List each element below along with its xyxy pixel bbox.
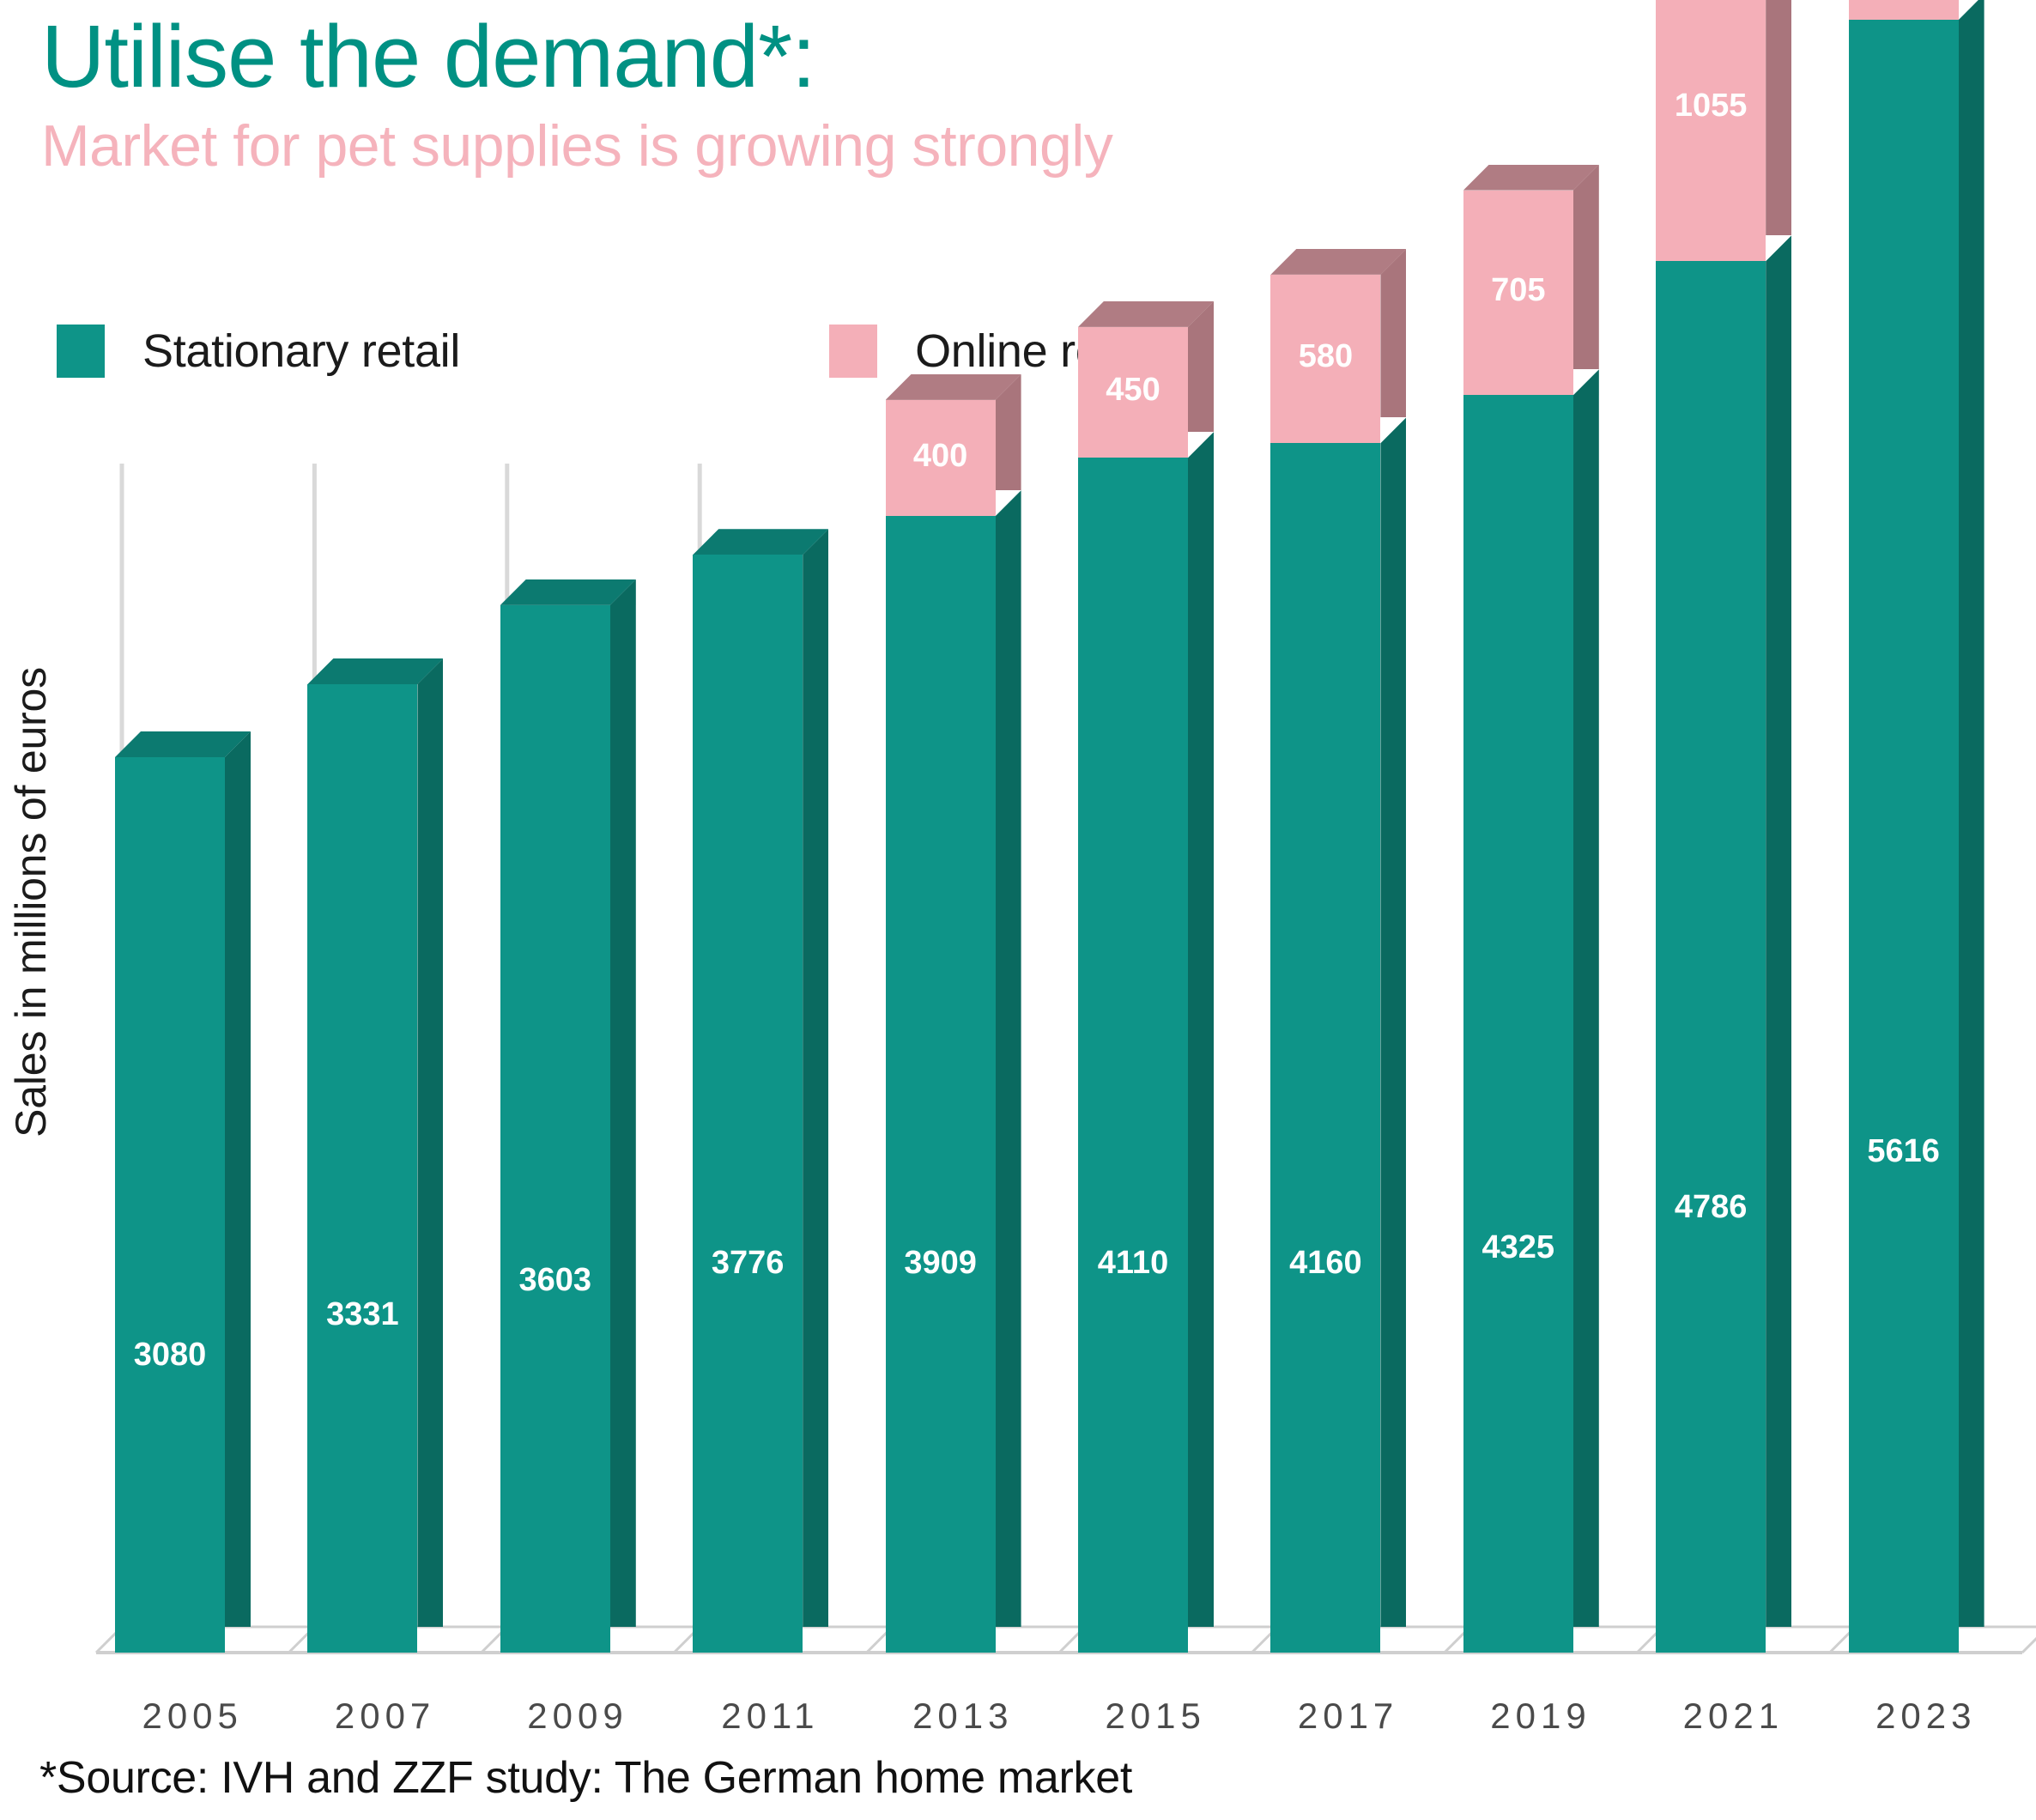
bar-value-label-online-2017: 580 (1270, 338, 1380, 375)
chart-bars-layer: 3080333136033776390940041104504160580432… (0, 0, 2036, 1820)
bar-value-label-online-2019: 705 (1463, 272, 1573, 309)
x-axis-label-2017: 2017 (1251, 1696, 1444, 1737)
x-axis-label-2015: 2015 (1059, 1696, 1251, 1737)
bar-2017-online-side-face (1380, 249, 1406, 417)
bar-value-label-stationary-2009: 3603 (500, 1262, 610, 1299)
bar-2021-stationary-side-face (1766, 235, 1791, 1627)
x-axis-label-2023: 2023 (1830, 1696, 2022, 1737)
bar-value-label-stationary-2019: 4325 (1463, 1229, 1573, 1266)
bar-2019-online-side-face (1573, 165, 1599, 370)
bar-2017-stationary-front-face (1270, 443, 1380, 1653)
bar-2007-stationary-side-face (417, 658, 443, 1627)
source-note: *Source: IVH and ZZF study: The German h… (39, 1752, 1132, 1804)
chart-plot-area: 3080333136033776390940041104504160580432… (0, 0, 2036, 1820)
bar-2023-stationary-front-face (1849, 20, 1959, 1653)
bar-2019-stationary-side-face (1573, 369, 1599, 1627)
bar-2017-stationary-side-face (1380, 417, 1406, 1627)
bar-value-label-stationary-2013: 3909 (886, 1245, 996, 1282)
bar-2007-stationary-front-face (307, 684, 417, 1653)
bar-2019-stationary-front-face (1463, 395, 1573, 1653)
x-axis-label-2005: 2005 (96, 1696, 288, 1737)
bar-value-label-stationary-2011: 3776 (693, 1245, 803, 1282)
bar-value-label-stationary-2017: 4160 (1270, 1245, 1380, 1282)
bar-value-label-online-2015: 450 (1078, 372, 1188, 409)
bar-2015-stationary-side-face (1188, 432, 1214, 1627)
bar-value-label-stationary-2023: 5616 (1849, 1133, 1959, 1170)
x-axis-label-2009: 2009 (482, 1696, 674, 1737)
x-axis-label-2019: 2019 (1445, 1696, 1637, 1737)
bar-value-label-online-2013: 400 (886, 438, 996, 475)
bar-value-label-online-2021: 1055 (1656, 88, 1766, 124)
x-axis-label-2021: 2021 (1637, 1696, 1829, 1737)
x-axis-label-2011: 2011 (674, 1696, 866, 1737)
bar-value-label-stationary-2021: 4786 (1656, 1189, 1766, 1226)
bar-value-label-stationary-2007: 3331 (307, 1296, 417, 1333)
bar-2013-stationary-front-face (886, 516, 996, 1653)
bar-2021-stationary-front-face (1656, 261, 1766, 1653)
x-axis-label-2007: 2007 (288, 1696, 481, 1737)
bar-value-label-stationary-2015: 4110 (1078, 1245, 1188, 1282)
bar-2021-online-front-face (1656, 0, 1766, 261)
bar-2011-stationary-front-face (693, 555, 803, 1653)
bar-2005-stationary-front-face (115, 757, 225, 1653)
bar-2015-stationary-front-face (1078, 458, 1188, 1653)
bar-2023-online-front-face (1849, 0, 1959, 20)
bar-2009-stationary-front-face (500, 605, 610, 1653)
bar-2009-stationary-side-face (610, 579, 636, 1627)
bar-value-label-stationary-2005: 3080 (115, 1337, 225, 1374)
bar-2013-stationary-side-face (996, 490, 1021, 1627)
x-axis-label-2013: 2013 (867, 1696, 1059, 1737)
bar-2023-stationary-side-face (1959, 0, 1984, 1627)
bar-2021-online-side-face (1766, 0, 1791, 235)
bar-2005-stationary-side-face (225, 731, 251, 1627)
bar-2011-stationary-side-face (803, 529, 828, 1627)
